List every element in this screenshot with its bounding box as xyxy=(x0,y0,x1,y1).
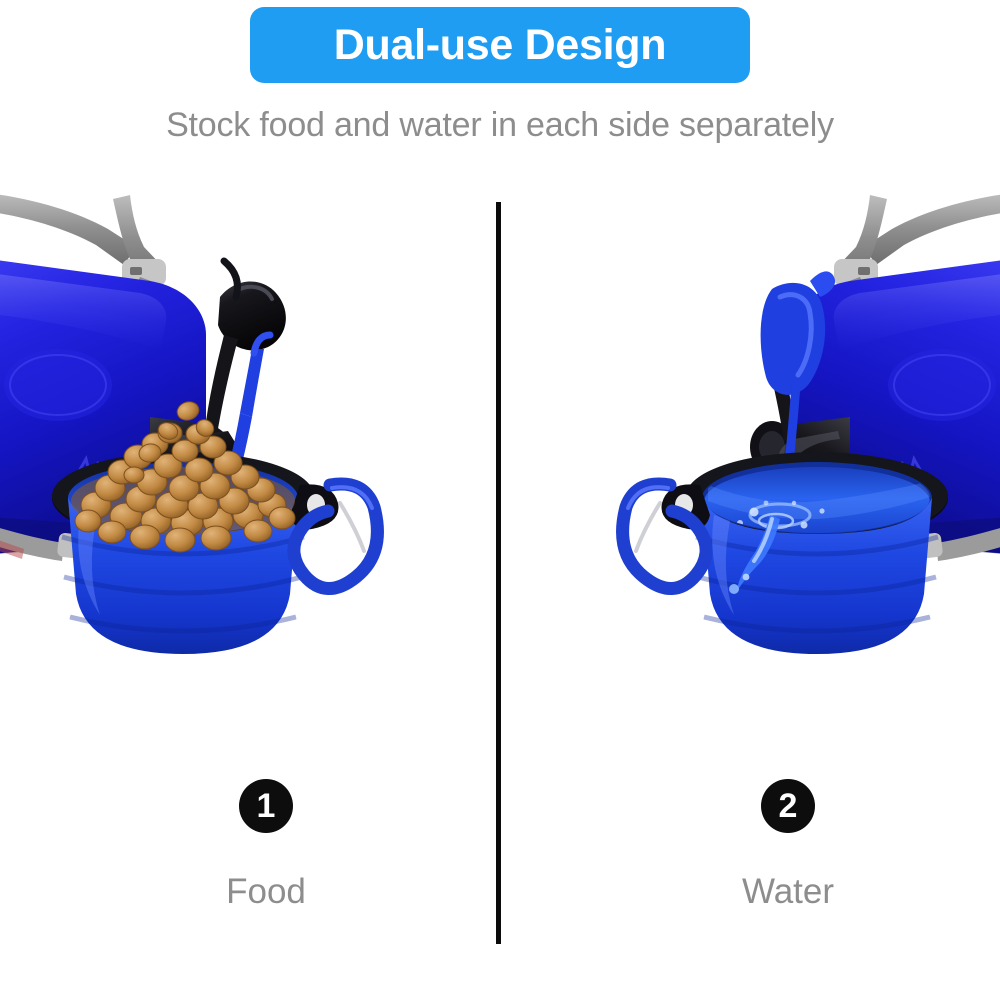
step-label-food: Food xyxy=(141,874,391,909)
step-badge-1: 1 xyxy=(239,779,293,833)
product-image-water xyxy=(504,185,1000,745)
page-title: Dual-use Design xyxy=(334,24,666,67)
title-banner: Dual-use Design xyxy=(250,7,750,83)
step-badge-2: 2 xyxy=(761,779,815,833)
panel-divider xyxy=(496,202,501,944)
step-water: 2 Water xyxy=(663,779,913,909)
subtitle-text: Stock food and water in each side separa… xyxy=(0,106,1000,145)
step-label-water: Water xyxy=(663,874,913,909)
step-food: 1 Food xyxy=(141,779,391,909)
product-image-food xyxy=(0,185,496,745)
